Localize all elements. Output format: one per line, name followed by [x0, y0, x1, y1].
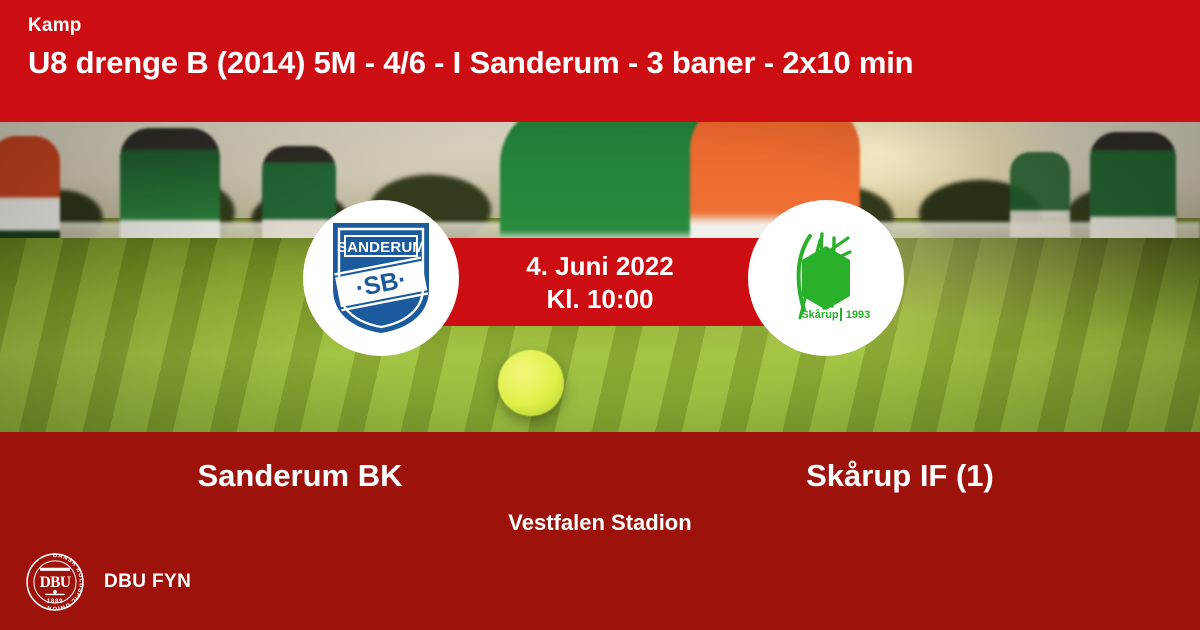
poster-footer: DANSK BOLDSPIL UNION DBU 1889 DBU FYN: [24, 548, 191, 616]
svg-text:1993: 1993: [846, 309, 870, 321]
svg-text:1889: 1889: [47, 598, 63, 605]
page-title: U8 drenge B (2014) 5M - 4/6 - I Sanderum…: [28, 42, 1200, 84]
home-team-crest: SANDERUM ·SB·: [303, 200, 459, 356]
team-names-row: Sanderum BK Skårup IF (1): [0, 448, 1200, 504]
sanderum-bk-crest-icon: SANDERUM ·SB·: [329, 219, 433, 337]
home-team-name: Sanderum BK: [0, 448, 600, 504]
venue-name: Vestfalen Stadion: [0, 508, 1200, 538]
svg-text:SANDERUM: SANDERUM: [337, 239, 425, 256]
header-kicker: Kamp: [28, 14, 1200, 38]
svg-text:DBU: DBU: [40, 574, 71, 591]
footer-label: DBU FYN: [104, 571, 191, 593]
match-poster: Kamp U8 drenge B (2014) 5M - 4/6 - I San…: [0, 0, 1200, 630]
away-team-name: Skårup IF (1): [600, 448, 1200, 504]
svg-text:Skårup: Skårup: [801, 309, 839, 321]
skaarup-if-crest-icon: Skårup 1993: [770, 222, 882, 334]
poster-header: Kamp U8 drenge B (2014) 5M - 4/6 - I San…: [0, 0, 1200, 122]
away-team-crest: Skårup 1993: [748, 200, 904, 356]
dbu-logo-icon: DANSK BOLDSPIL UNION DBU 1889: [24, 551, 86, 613]
